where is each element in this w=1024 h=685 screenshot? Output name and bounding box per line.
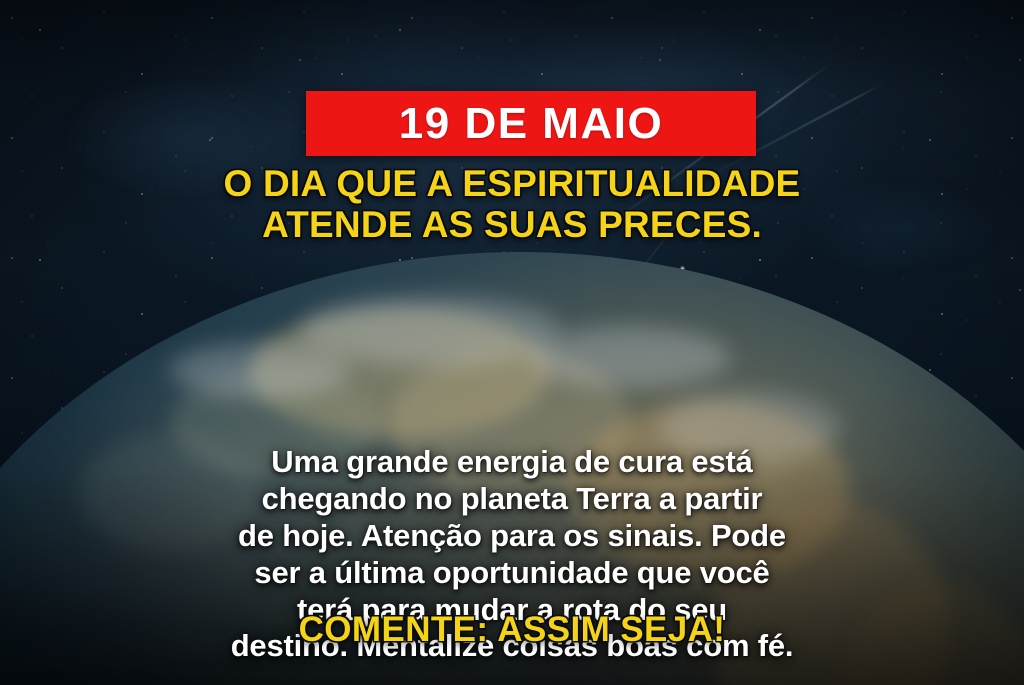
headline-line-2: ATENDE AS SUAS PRECES. [40,204,984,245]
headline-line-1: O DIA QUE A ESPIRITUALIDADE [40,163,984,204]
headline: O DIA QUE A ESPIRITUALIDADE ATENDE AS SU… [0,163,1024,246]
date-banner-text: 19 DE MAIO [399,102,663,146]
body-line-2: chegando no planeta Terra a partir [46,481,978,518]
call-to-action-text: COMENTE: ASSIM SEJA! [0,612,1024,647]
body-line-1: Uma grande energia de cura está [46,444,978,481]
poster-content: 19 DE MAIO O DIA QUE A ESPIRITUALIDADE A… [0,0,1024,685]
body-line-3: de hoje. Atenção para os sinais. Pode [46,518,978,555]
date-banner: 19 DE MAIO [306,91,756,156]
body-line-4: ser a última oportunidade que você [46,555,978,592]
poster-canvas: 19 DE MAIO O DIA QUE A ESPIRITUALIDADE A… [0,0,1024,685]
